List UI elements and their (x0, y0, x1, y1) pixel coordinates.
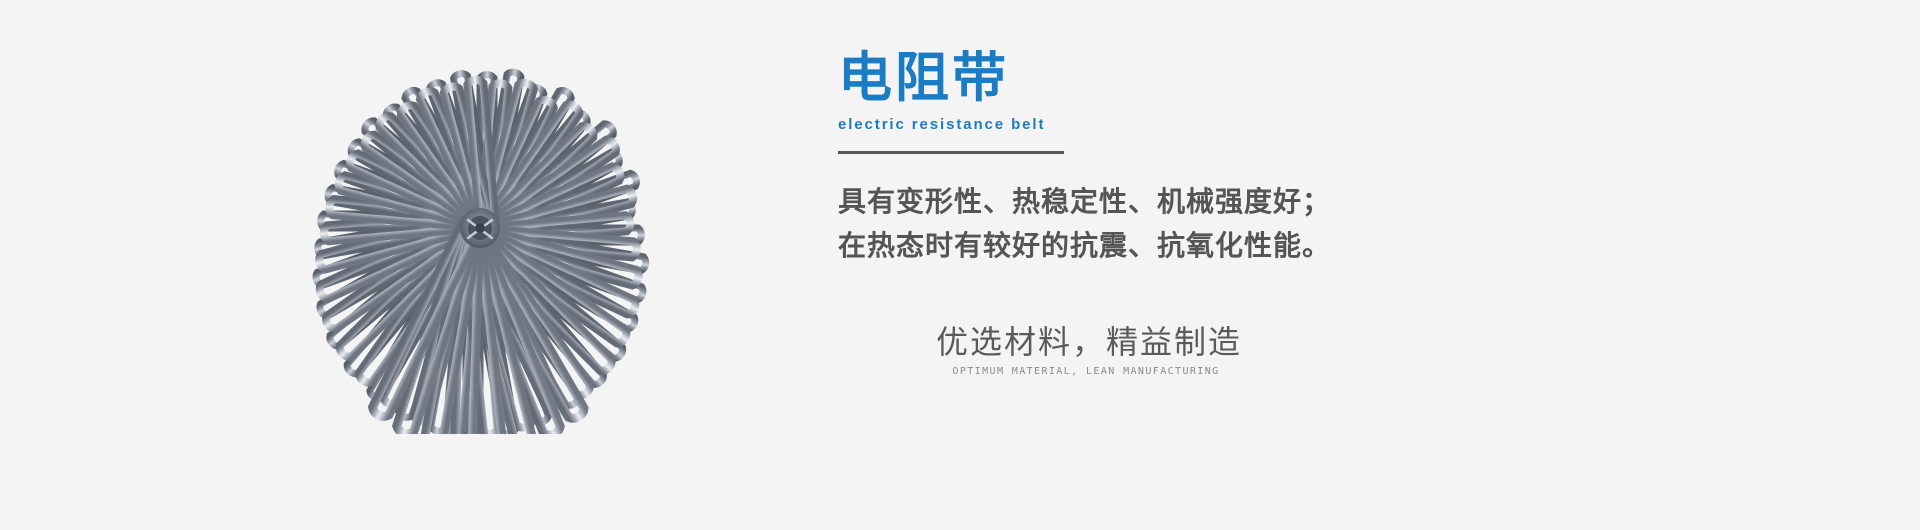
tagline-block: 优选材料，精益制造 OPTIMUM MATERIAL, LEAN MANUFAC… (936, 322, 1236, 377)
product-banner: 电阻带 electric resistance belt 具有变形性、热稳定性、… (0, 0, 1920, 530)
title-divider (838, 151, 1064, 154)
description-line-1: 具有变形性、热稳定性、机械强度好； (838, 180, 1738, 224)
text-column: 电阻带 electric resistance belt 具有变形性、热稳定性、… (838, 46, 1738, 496)
description-line-2: 在热态时有较好的抗震、抗氧化性能。 (838, 224, 1738, 268)
tagline-chinese: 优选材料，精益制造 (936, 322, 1236, 362)
description-block: 具有变形性、热稳定性、机械强度好； 在热态时有较好的抗震、抗氧化性能。 (838, 180, 1738, 268)
page-title: 电阻带 (838, 46, 1738, 110)
page-subtitle: electric resistance belt (838, 116, 1738, 133)
product-image (300, 52, 660, 434)
tagline-english: OPTIMUM MATERIAL, LEAN MANUFACTURING (936, 366, 1236, 377)
